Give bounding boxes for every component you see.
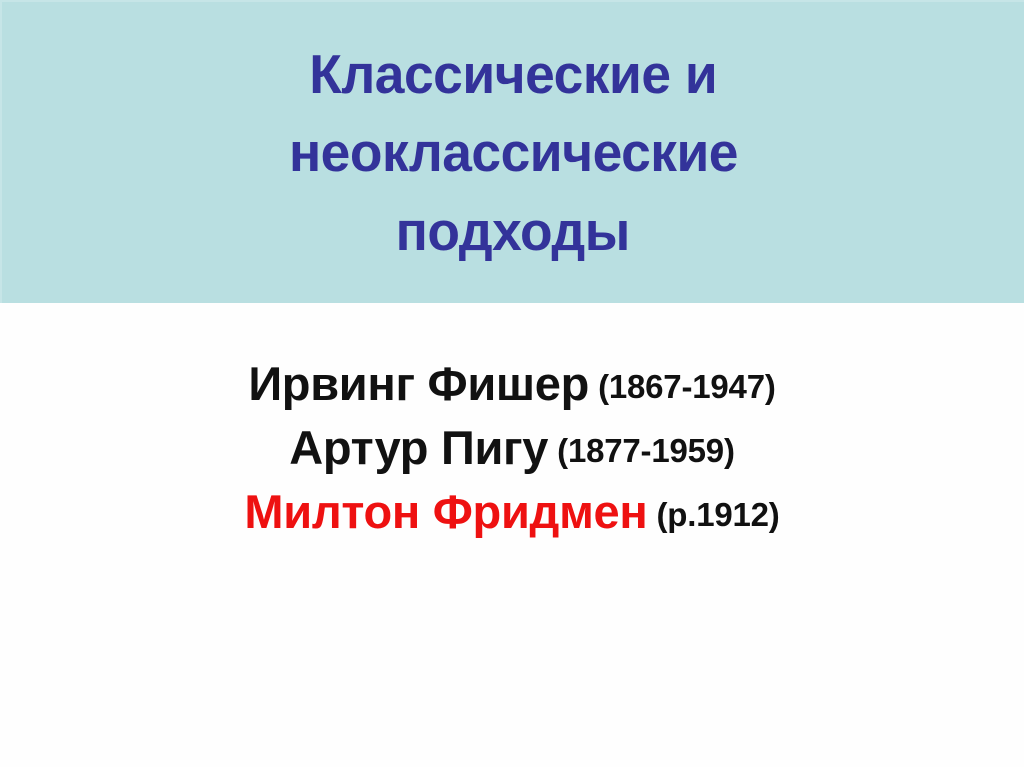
person-name: Ирвинг Фишер xyxy=(248,357,589,410)
person-dates: (1877-1959) xyxy=(557,432,735,469)
person-name: Милтон Фридмен xyxy=(244,485,647,538)
presentation-slide: Классические и неоклассические подходы И… xyxy=(0,0,1024,767)
list-item: Артур Пигу(1877-1959) xyxy=(289,424,735,471)
list-item: Милтон Фридмен(р.1912) xyxy=(244,488,779,535)
title-band: Классические и неоклассические подходы xyxy=(0,0,1024,303)
person-name: Артур Пигу xyxy=(289,421,548,474)
title-line-1: Классические и xyxy=(309,35,717,113)
content-area: Ирвинг Фишер(1867-1947) Артур Пигу(1877-… xyxy=(0,303,1024,767)
list-item: Ирвинг Фишер(1867-1947) xyxy=(248,360,775,407)
title-line-3: подходы xyxy=(396,192,630,270)
person-dates: (р.1912) xyxy=(656,496,779,533)
person-dates: (1867-1947) xyxy=(598,368,776,405)
title-line-2: неоклассические xyxy=(288,113,737,191)
